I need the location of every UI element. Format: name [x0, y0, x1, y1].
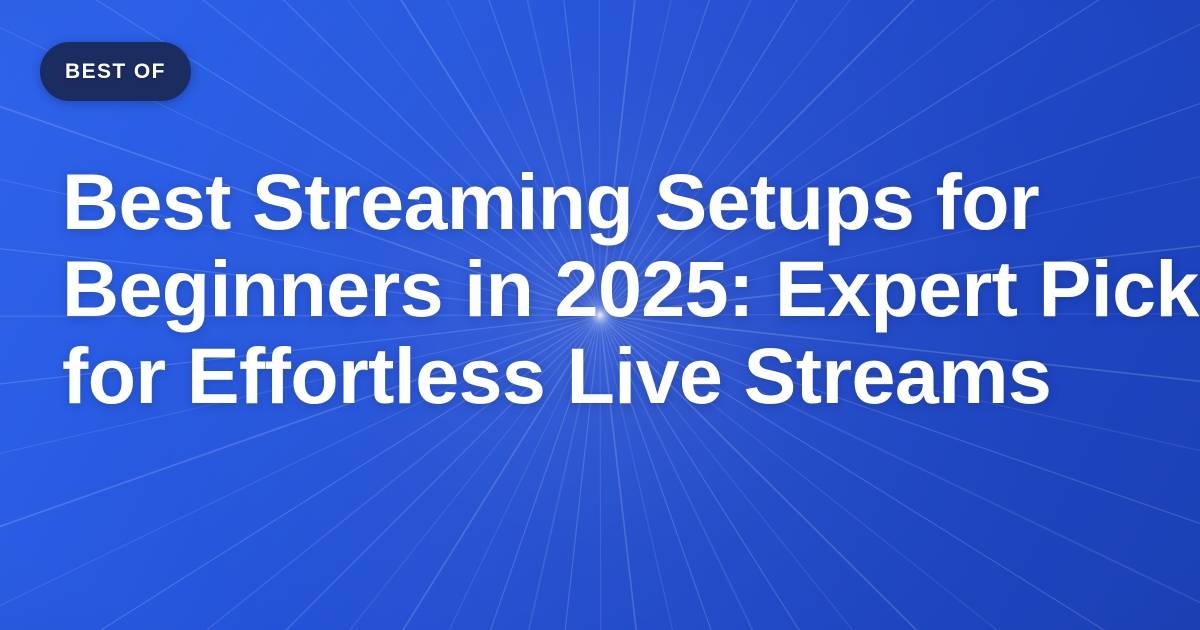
- best-of-banner: BEST OF Best Streaming Setups for Beginn…: [0, 0, 1200, 630]
- page-title: Best Streaming Setups for Beginners in 2…: [62, 158, 1152, 419]
- banner-content: BEST OF Best Streaming Setups for Beginn…: [0, 0, 1200, 630]
- best-of-badge-label: BEST OF: [65, 61, 166, 82]
- best-of-badge: BEST OF: [40, 42, 191, 101]
- headline-line-2: Beginners in 2025: Expert Picks: [62, 245, 1152, 332]
- headline-line-1: Best Streaming Setups for: [62, 158, 1152, 245]
- headline-line-3: for Effortless Live Streams: [62, 332, 1152, 419]
